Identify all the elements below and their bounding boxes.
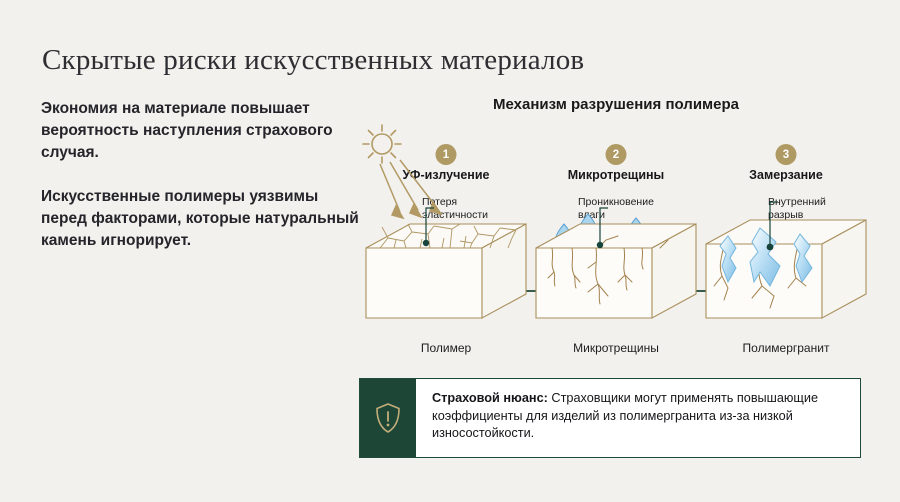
stage-2: 2 Микротрещины Проникновение влаги — [530, 96, 702, 366]
stage-1-caption: Полимер — [360, 341, 532, 355]
stage-1-illustration — [360, 96, 532, 366]
stage-3-illustration — [700, 96, 872, 366]
polymer-degradation-diagram: Механизм разрушения полимера 1 УФ-излуче… — [360, 96, 872, 366]
stage-3-caption: Полимергранит — [700, 341, 872, 355]
slide-root: Скрытые риски искусственных материалов Э… — [0, 0, 900, 502]
left-text-column: Экономия на материале повышает вероятнос… — [41, 98, 359, 252]
insurance-note-box: Страховой нюанс: Страховщики могут приме… — [359, 378, 861, 458]
sun-icon — [363, 125, 401, 163]
page-title: Скрытые риски искусственных материалов — [42, 44, 584, 77]
stage-2-illustration — [530, 96, 702, 366]
stage-3: 3 Замерзание Внутренний разрыв — [700, 96, 872, 366]
paragraph-1: Экономия на материале повышает вероятнос… — [41, 98, 359, 164]
note-text: Страховой нюанс: Страховщики могут приме… — [416, 379, 860, 457]
note-bold-lead: Страховой нюанс: — [432, 391, 548, 405]
stage-1: 1 УФ-излучение Потеря эластичности — [360, 96, 532, 366]
note-icon-panel — [360, 379, 416, 457]
stage-2-caption: Микротрещины — [530, 341, 702, 355]
shield-alert-icon — [374, 402, 402, 434]
paragraph-2: Искусственные полимеры уязвимы перед фак… — [41, 186, 359, 252]
